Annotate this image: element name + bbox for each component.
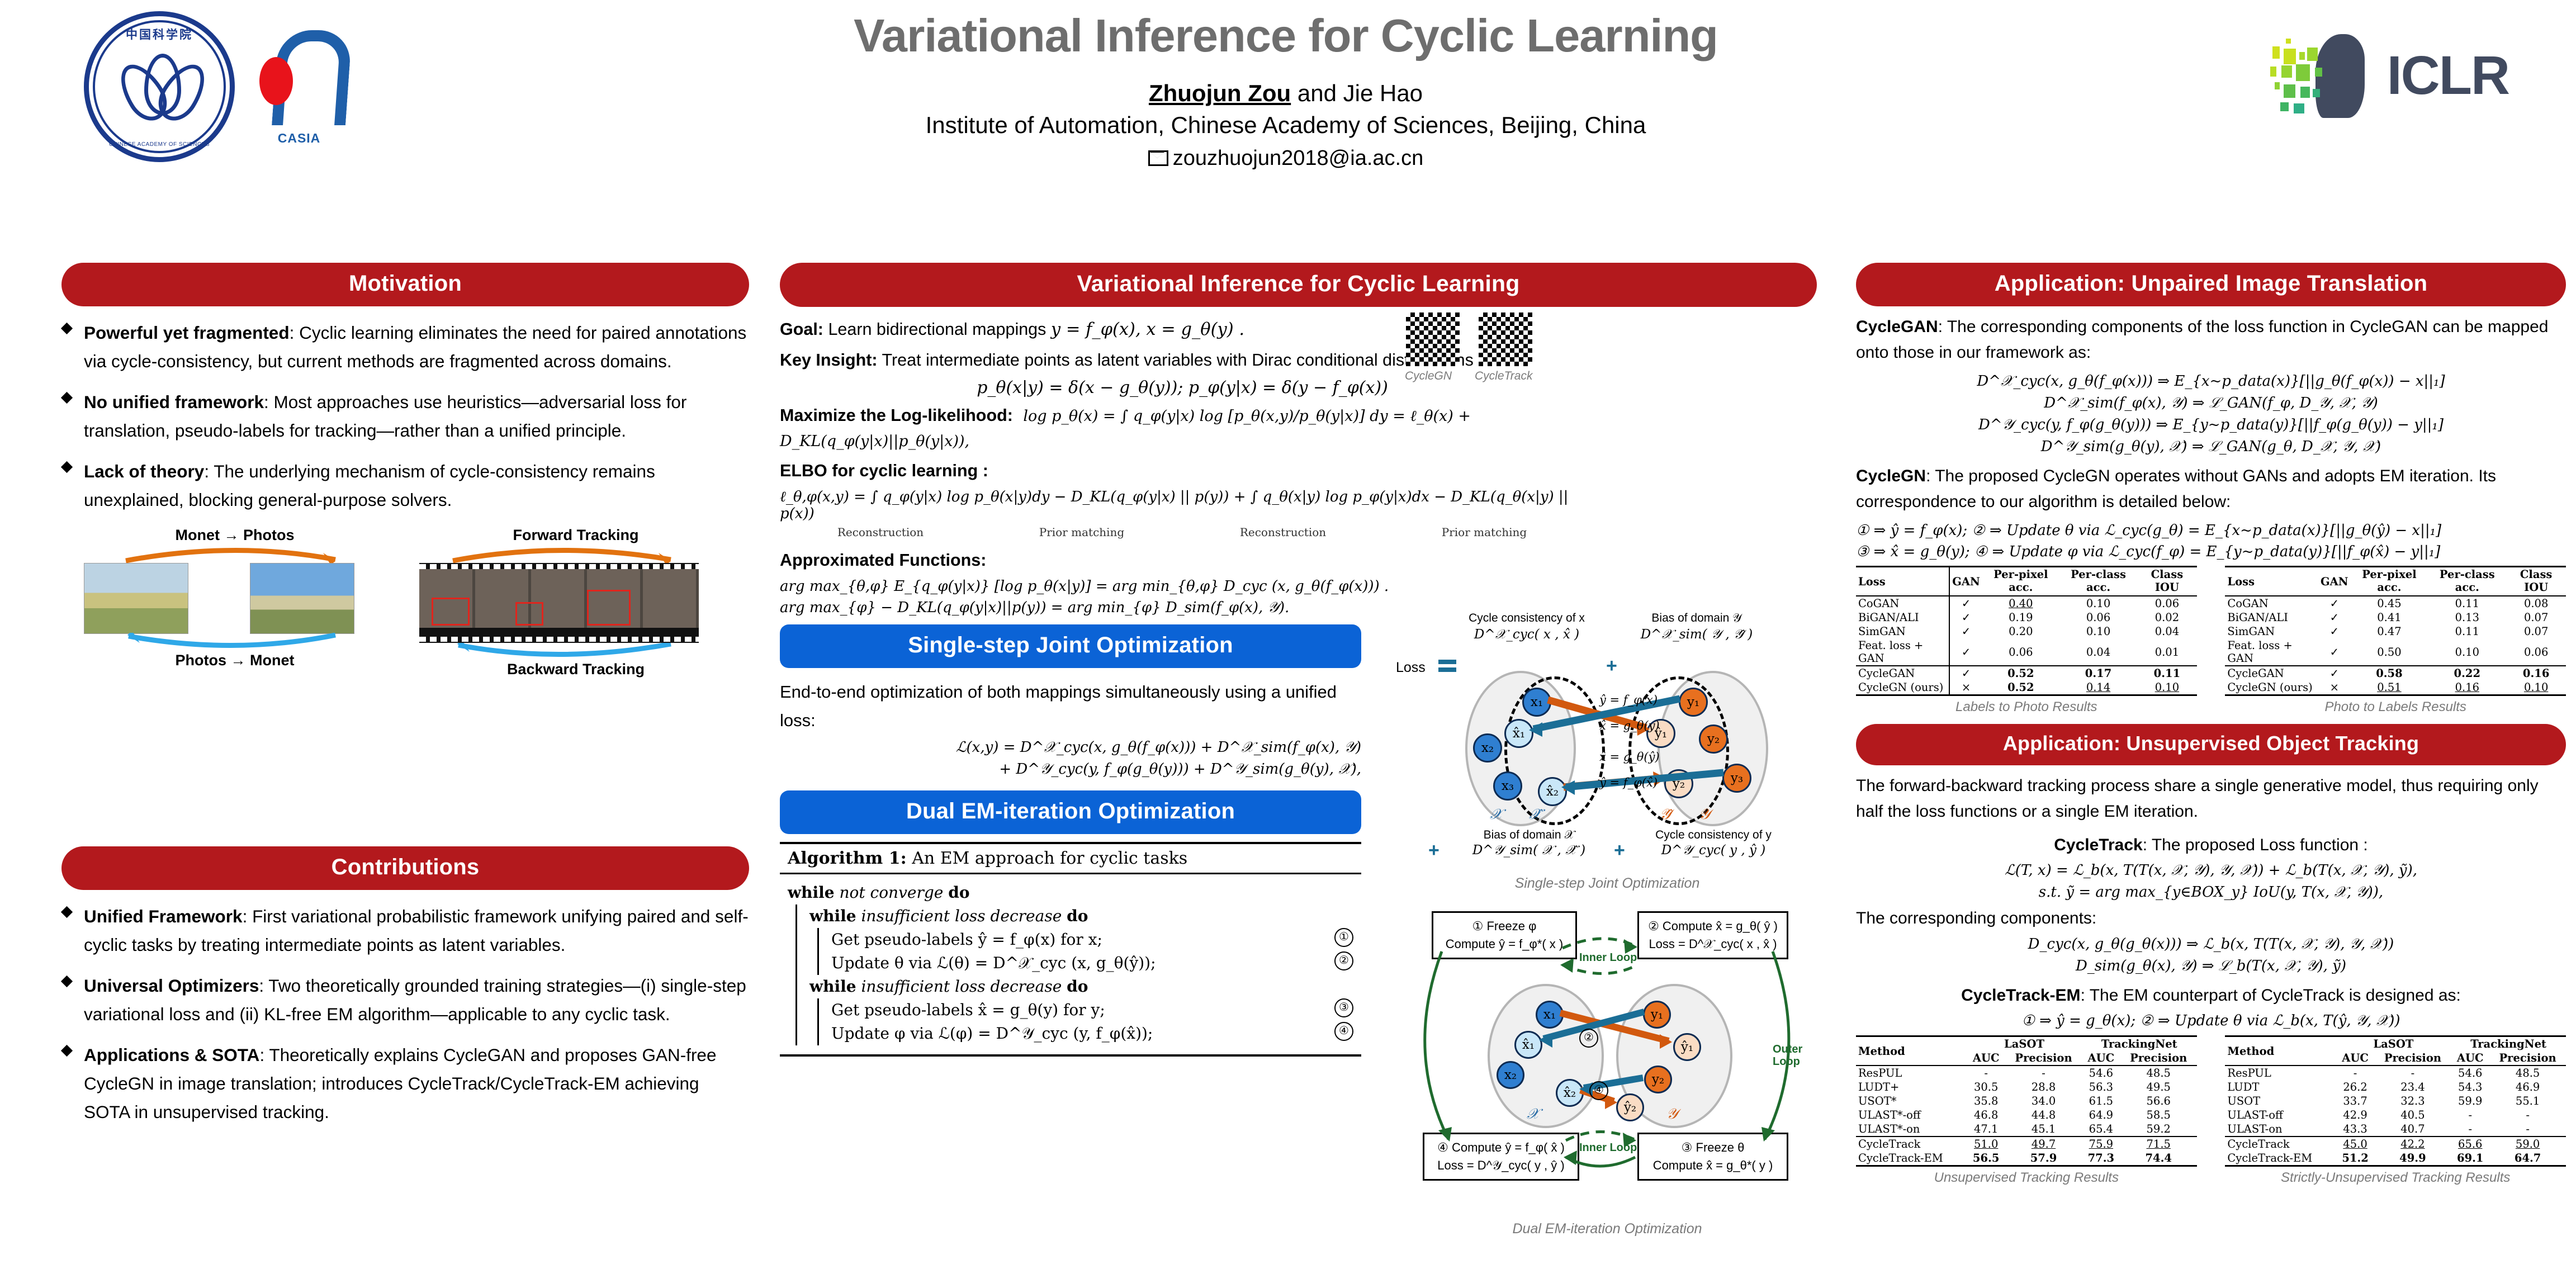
table-row: CycleGAN✓0.520.170.11 [1856,666,2197,680]
section-header-contributions: Contributions [61,846,749,890]
goal-equation: y = f_φ(x), x = g_θ(y) . [1051,320,1244,339]
cell-iou: 0.07 [2506,610,2566,624]
table-row: CycleTrack-EM56.557.977.374.4 [1856,1151,2197,1166]
cycletrack-em-label: CycleTrack-EM [1961,986,2080,1005]
cell-per-class: 0.10 [2059,624,2137,638]
th-trackingnet: TrackingNet [2082,1036,2197,1052]
cell-iou: 0.06 [2137,596,2196,610]
cell-prec-tnet: 46.9 [2489,1080,2566,1094]
cell-iou: 0.08 [2506,596,2566,610]
algorithm-keyword: while [809,907,856,925]
cell-per-class: 0.10 [2428,638,2506,666]
th-auc-lasot: AUC [1967,1051,2005,1066]
approx-equation-1: arg max_{θ,φ} E_{q_φ(y|x)} [log p_θ(x|y)… [780,578,1585,595]
key-insight-line: Key Insight: Treat intermediate points a… [780,348,1585,372]
cell-prec-lasot: 28.8 [2005,1080,2082,1094]
cell-iou: 0.10 [2137,680,2196,695]
cell-per-class: 0.13 [2428,610,2506,624]
cell-method: CycleTrack-EM [2225,1151,2336,1166]
list-item: Applications & SOTA: Theoretically expla… [61,1041,749,1126]
single-step-equation-2: + D^𝒴_cyc(y, f_φ(g_θ(y))) + D^𝒴_sim(g_θ(… [780,761,1361,778]
column-middle: Variational Inference for Cyclic Learnin… [780,263,1817,1057]
cell-gan: ✓ [1949,638,1982,666]
table-strict-wrap: Method LaSOT TrackingNet AUC Precision A… [2225,1035,2566,1186]
dirac-equation: p_θ(x|y) = δ(x − g_θ(y)); p_φ(y|x) = δ(y… [780,378,1585,397]
table-row: Feat. loss + GAN✓0.060.040.01 [1856,638,2197,666]
diamond-bullet-icon [61,392,73,404]
cell-auc-tnet: 69.1 [2451,1151,2489,1166]
list-item: Universal Optimizers: Two theoretically … [61,972,749,1029]
cell-auc-lasot: 51.0 [1967,1137,2005,1151]
casia-logo-dot [259,57,293,105]
cyclegan-equation-1: D^𝒳_cyc(x, g_θ(f_φ(x))) ⇒ E_{x~p_data(x)… [1856,373,2566,390]
algorithm-box: Algorithm 1: An EM approach for cyclic t… [780,842,1361,1057]
diamond-bullet-icon [61,1045,73,1057]
cell-auc-tnet: 54.3 [2451,1080,2489,1094]
th-auc-tnet: AUC [2451,1051,2489,1066]
cell-prec-tnet: 59.0 [2489,1137,2566,1151]
cell-iou: 0.10 [2506,680,2566,695]
diagram1-map-forward2: ŷ = f_φ(x̂) [1599,776,1658,789]
cell-prec-lasot: 44.8 [2005,1108,2082,1122]
cell-auc-lasot: - [2336,1066,2375,1080]
table-row: ULAST-off42.940.5-- [2225,1108,2566,1122]
cell-per-class: 0.11 [2428,624,2506,638]
table-row: CycleGN (ours)×0.520.140.10 [1856,680,2197,695]
em-domain-y-symbol: 𝒴 [1666,1106,1678,1123]
cell-gan: ✓ [2318,638,2351,666]
figure-caption-photos-to-monet: Photos → Monet [73,652,397,669]
contact-email-line: zouzhuojun2018@ia.ac.cn [615,146,1957,171]
th-per-class: Per-class acc. [2428,567,2506,595]
underbrace-label-reconstruction-1: Reconstruction [780,525,981,539]
film-perforations-bottom [419,637,699,642]
cell-prec-tnet: - [2489,1108,2566,1122]
cell-per-pixel: 0.52 [1982,680,2059,695]
cell-prec-tnet: 59.2 [2120,1122,2197,1137]
single-step-text: End-to-end optimization of both mappings… [780,678,1361,734]
table-header-row: Loss GAN Per-pixel acc. Per-class acc. C… [1856,567,2197,595]
cell-gan: × [2318,680,2351,695]
table-row: CycleTrack45.042.265.659.0 [2225,1137,2566,1151]
author-lead: Zhuojun Zou [1149,80,1291,106]
cell-prec-lasot: 40.5 [2375,1108,2451,1122]
cell-method: USOT [2225,1094,2336,1108]
image-tracking-filmstrip [419,563,699,643]
cell-method: ULAST-off [2225,1108,2336,1122]
key-insight-text: Treat intermediate points as latent vari… [882,351,1483,370]
cell-gan: ✓ [1949,624,1982,638]
th-per-pixel: Per-pixel acc. [2351,567,2428,595]
key-insight-label: Key Insight: [780,351,878,370]
algorithm-statement: Update θ via ℒ(θ) = D^𝒳_cyc (x, g_θ(ŷ)); [831,951,1156,975]
cell-prec-lasot: 49.9 [2375,1151,2451,1166]
cyclegn-paragraph: CycleGN: The proposed CycleGN operates w… [1856,463,2566,514]
cell-auc-lasot: 26.2 [2336,1080,2375,1094]
cell-prec-lasot: 23.4 [2375,1080,2451,1094]
cell-loss: CoGAN [2225,596,2318,610]
algorithm-label: Algorithm 1: [788,849,907,868]
table-row: CoGAN✓0.400.100.06 [1856,596,2197,610]
cell-method: LUDT [2225,1080,2336,1094]
cell-auc-lasot: 46.8 [1967,1108,2005,1122]
plus-icon: + [1428,840,1439,861]
cell-per-class: 0.06 [2059,610,2137,624]
th-per-class: Per-class acc. [2059,567,2137,595]
algorithm-condition: not converge [839,883,943,902]
algorithm-line: Get pseudo-labels ŷ = f_φ(x) for x; ① [831,928,1353,951]
diamond-bullet-icon [61,906,73,918]
cell-auc-lasot: 45.0 [2336,1137,2375,1151]
cell-per-class: 0.17 [2059,666,2137,680]
list-item: Unified Framework: First variational pro… [61,902,749,959]
iclr-logo-mark [2267,31,2365,120]
diagram1-cycle-y-label: Cycle consistency of y [1635,828,1792,842]
tracking-intro-text: The forward-backward tracking process sh… [1856,773,2566,824]
cell-auc-tnet: 61.5 [2082,1094,2120,1108]
inner-loop-label-top: Inner Loop [1579,951,1637,964]
cell-loss: Feat. loss + GAN [2225,638,2318,666]
cyclegn-label: CycleGN [1856,467,1926,485]
cell-prec-tnet: 74.4 [2120,1151,2197,1166]
cell-prec-tnet: 48.5 [2120,1066,2197,1080]
cell-prec-lasot: 49.7 [2005,1137,2082,1151]
cell-prec-tnet: 49.5 [2120,1080,2197,1094]
cell-loss: SimGAN [2225,624,2318,638]
cas-logo-petals [117,51,201,119]
th-prec-tnet: Precision [2489,1051,2566,1066]
algorithm-block: Get pseudo-labels ŷ = f_φ(x) for x; ① Up… [817,928,1353,975]
cyclegan-equation-4: D^𝒴_sim(g_θ(y), 𝒳) ⇒ ℒ_GAN(g_θ, D_𝒳, 𝒴, … [1856,438,2566,456]
th-class-iou: Class IOU [2506,567,2566,595]
cell-method: CycleTrack-EM [1856,1151,1967,1166]
tracking-tables-row: Method LaSOT TrackingNet AUC Precision A… [1856,1035,2566,1186]
th-loss: Loss [2225,567,2318,596]
casia-logo: CASIA [240,27,358,147]
cell-per-pixel: 0.45 [2351,596,2428,610]
bullet-lead: Applications & SOTA [84,1045,259,1065]
diagram1-bias-x-label: Bias of domain 𝒳 [1456,828,1602,842]
cell-iou: 0.16 [2506,666,2566,680]
cell-prec-tnet: 58.5 [2120,1108,2197,1122]
tracking-bbox [587,590,631,626]
cell-method: USOT* [1856,1094,1967,1108]
algorithm-statement: Update φ via ℒ(φ) = D^𝒴_cyc (y, f_φ(x̂))… [831,1022,1153,1045]
cell-auc-tnet: 54.6 [2451,1066,2489,1080]
cell-gan: ✓ [2318,596,2351,610]
author-conjunction: and [1298,80,1337,106]
cas-logo-cn-text: 中国科学院 [84,26,235,42]
cyclegan-equation-2: D^𝒳_sim(f_φ(x), 𝒴) ⇒ ℒ_GAN(f_φ, D_𝒴, 𝒳, … [1856,395,2566,412]
cell-prec-lasot: 45.1 [2005,1122,2082,1137]
cell-auc-tnet: 56.3 [2082,1080,2120,1094]
cycletrack-em-paragraph: CycleTrack-EM: The EM counterpart of Cyc… [1856,983,2566,1008]
inner-loop-label-bottom: Inner Loop [1579,1142,1637,1154]
table-row: ResPUL--54.648.5 [2225,1066,2566,1080]
cell-auc-tnet: - [2451,1122,2489,1137]
table-strictly-unsupervised-tracking: Method LaSOT TrackingNet AUC Precision A… [2225,1035,2566,1167]
table-row: SimGAN✓0.470.110.07 [2225,624,2566,638]
cell-prec-lasot: 57.9 [2005,1151,2082,1166]
components-label: The corresponding components: [1856,906,2566,931]
approx-functions-label: Approximated Functions: [780,548,1585,572]
cell-prec-tnet: 55.1 [2489,1094,2566,1108]
poster-header: 中国科学院 CHINESE ACADEMY OF SCIENCES CASIA … [0,0,2576,240]
cell-per-class: 0.22 [2428,666,2506,680]
cell-iou: 0.06 [2506,638,2566,666]
plus-icon: + [1614,840,1625,861]
qr-caption-cycletrack: CycleTrack [1475,370,1532,383]
th-method: Method [2225,1036,2336,1066]
th-loss: Loss [1856,567,1949,596]
cell-auc-tnet: 65.6 [2451,1137,2489,1151]
em-step-marker-2: ② [1579,1029,1598,1048]
diagram-dual-em: ① Freeze φ Compute ŷ = f_φ*( x ) ② Compu… [1395,911,1820,1237]
cyclegn-text: : The proposed CycleGN operates without … [1856,467,2496,511]
algorithm-keyword: while [809,977,856,996]
column-left: Motivation Powerful yet fragmented: Cycl… [61,263,749,1139]
cell-per-pixel: 0.51 [2351,680,2428,695]
table-row: ULAST*-on47.145.165.459.2 [1856,1122,2197,1137]
cyclegan-equation-3: D^𝒴_cyc(y, f_φ(g_θ(y))) ⇒ E_{y~p_data(y)… [1856,416,2566,434]
table-row: LUDT26.223.454.346.9 [2225,1080,2566,1094]
diagram1-map-forward: ŷ = f_φ(x) [1599,693,1658,707]
em-domain-x-symbol: 𝒳 [1527,1106,1539,1123]
goal-text: Learn bidirectional mappings [828,320,1046,339]
underbrace-label-prior-2: Prior matching [1384,525,1585,539]
diagram-single-step: Loss Cycle consistency of x D^𝒳_cyc( x ,… [1395,609,1820,892]
cycletrack-em-equation: ① ⇒ ŷ = g_θ(x); ② ⇒ Update θ via ℒ_b(x, … [1856,1012,2566,1030]
diagram1-caption: Single-step Joint Optimization [1395,875,1820,892]
th-per-pixel: Per-pixel acc. [1982,567,2059,595]
image-real-photo [250,563,354,634]
algorithm-keyword: while [788,883,835,902]
cell-loss: SimGAN [1856,624,1949,638]
algorithm-header: Algorithm 1: An EM approach for cyclic t… [780,844,1361,874]
th-trackingnet: TrackingNet [2451,1036,2566,1052]
cell-per-pixel: 0.20 [1982,624,2059,638]
image-monet-painting [84,563,188,634]
algorithm-title: An EM approach for cyclic tasks [912,849,1187,868]
cyclegan-text: : The corresponding components of the lo… [1856,318,2548,362]
cell-loss: BiGAN/ALI [1856,610,1949,624]
motivation-bullet-list: Powerful yet fragmented: Cyclic learning… [61,319,749,514]
cell-per-pixel: 0.50 [2351,638,2428,666]
cell-auc-tnet: 77.3 [2082,1151,2120,1166]
cell-method: ULAST-on [2225,1122,2336,1137]
cyclegan-label: CycleGAN [1856,318,1938,336]
cell-per-pixel: 0.40 [1982,596,2059,610]
list-item: Lack of theory: The underlying mechanism… [61,457,749,514]
table-labels-to-photo: Loss GAN Per-pixel acc. Per-class acc. C… [1856,566,2197,696]
algorithm-step-number: ① [1334,928,1353,947]
cell-prec-lasot: 32.3 [2375,1094,2451,1108]
components-equation-2: D_sim(g_θ(x), 𝒴) ⇒ ℒ_b(T(x, 𝒳, 𝒴), ỹ) [1856,958,2566,975]
th-prec-lasot: Precision [2375,1051,2451,1066]
diamond-bullet-icon [61,976,73,987]
table-row: CycleGAN✓0.580.220.16 [2225,666,2566,680]
algorithm-step-number: ② [1334,951,1353,970]
cell-auc-tnet: - [2451,1108,2489,1122]
cell-per-pixel: 0.19 [1982,610,2059,624]
qr-code-cyclegn[interactable] [1406,312,1460,366]
table-header-row: Method LaSOT TrackingNet [2225,1036,2566,1052]
poster-root: 中国科学院 CHINESE ACADEMY OF SCIENCES CASIA … [0,0,2576,1288]
table-body: CoGAN✓0.400.100.06 BiGAN/ALI✓0.190.060.0… [1856,596,2197,695]
cell-per-class: 0.11 [2428,596,2506,610]
cell-auc-tnet: 64.9 [2082,1108,2120,1122]
cell-auc-lasot: - [1967,1066,2005,1080]
cell-prec-tnet: - [2489,1122,2566,1137]
cas-logo-en-text: CHINESE ACADEMY OF SCIENCES [84,141,235,148]
translation-tables-row: Loss GAN Per-pixel acc. Per-class acc. C… [1856,566,2566,715]
figure-caption-backward-tracking: Backward Tracking [419,661,732,678]
affiliation: Institute of Automation, Chinese Academy… [615,112,1957,139]
cell-method: ULAST*-on [1856,1122,1967,1137]
table-caption-labels-to-photo: Labels to Photo Results [1856,699,2197,715]
algorithm-do: do [1067,977,1088,996]
section-header-application-tracking: Application: Unsupervised Object Trackin… [1856,724,2566,765]
bullet-lead: No unified framework [84,392,264,412]
table-row: BiGAN/ALI✓0.410.130.07 [2225,610,2566,624]
cell-auc-lasot: 47.1 [1967,1122,2005,1137]
algorithm-line: while insufficient loss decrease do [809,975,1353,998]
cell-method: CycleTrack [2225,1137,2336,1151]
cell-per-pixel: 0.58 [2351,666,2428,680]
table-row: USOT33.732.359.955.1 [2225,1094,2566,1108]
algorithm-condition: insufficient loss decrease [861,977,1062,996]
diamond-bullet-icon [61,323,73,334]
table-unsup-wrap: Method LaSOT TrackingNet AUC Precision A… [1856,1035,2197,1186]
cell-prec-tnet: 64.7 [2489,1151,2566,1166]
diagram1-cycle-y-eq: D^𝒴_cyc( y , ŷ ) [1635,843,1792,858]
algorithm-statement: Get pseudo-labels ŷ = f_φ(x) for x; [831,928,1102,951]
cell-gan: ✓ [2318,610,2351,624]
underbrace-label-reconstruction-2: Reconstruction [1182,525,1384,539]
table-row: BiGAN/ALI✓0.190.060.02 [1856,610,2197,624]
cycletrack-em-text: : The EM counterpart of CycleTrack is de… [2081,986,2461,1005]
table-unsupervised-tracking: Method LaSOT TrackingNet AUC Precision A… [1856,1035,2197,1167]
table-row: ResPUL--54.648.5 [1856,1066,2197,1080]
domain-y-symbol: 𝒴 [1699,806,1710,823]
th-gan: GAN [1949,567,1982,596]
middle-body: Goal: Learn bidirectional mappings y = f… [780,317,1585,617]
th-lasot: LaSOT [2336,1036,2451,1052]
table-row: CycleGN (ours)×0.510.160.10 [2225,680,2566,695]
algorithm-line: Get pseudo-labels x̂ = g_θ(y) for y; ③ [831,998,1353,1022]
algorithm-do: do [948,883,969,902]
bullet-lead: Universal Optimizers [84,976,259,996]
em-step-marker-4: ④ [1589,1081,1608,1100]
algorithm-block: Get pseudo-labels x̂ = g_θ(y) for y; ③ U… [817,998,1353,1045]
cell-gan: ✓ [1949,610,1982,624]
bullet-lead: Unified Framework [84,906,243,926]
cell-iou: 0.01 [2137,638,2196,666]
algorithm-step-number: ③ [1334,998,1353,1017]
table-photo-to-labels: Loss GAN Per-pixel acc. Per-class acc. C… [2225,566,2566,696]
diagram1-map-backward: x̂ = g_θ(y) [1599,719,1660,732]
qr-code-cycletrack[interactable] [1479,312,1532,366]
table-body: ResPUL--54.648.5 LUDT26.223.454.346.9 US… [2225,1066,2566,1166]
qr-caption-cyclegn: CycleGN [1405,370,1452,383]
domain-x-symbol: 𝒳 [1490,806,1502,823]
elbo-equation: ℓ_θ,φ(x,y) = ∫ q_φ(y|x) log p_θ(x|y)dy −… [780,489,1585,522]
cell-per-class: 0.16 [2428,680,2506,695]
iclr-logo-text: ICLR [2387,44,2509,107]
section-header-single-step: Single-step Joint Optimization [780,624,1361,668]
goal-label: Goal: [780,320,823,339]
column-right: Application: Unpaired Image Translation … [1856,263,2566,1186]
th-prec-tnet: Precision [2120,1051,2197,1066]
motivation-figure: Monet → Photos Photos → Monet Forward Tr… [61,527,749,672]
underbrace-label-prior-1: Prior matching [981,525,1182,539]
th-auc-tnet: AUC [2082,1051,2120,1066]
table-row: CycleTrack-EM51.249.969.164.7 [2225,1151,2566,1166]
outer-loop-label: Outer Loop [1773,1043,1798,1068]
cell-gan: × [1949,680,1982,695]
cycletrack-equation-1: ℒ(T, x) = ℒ_b(x, T(T(x, 𝒳, 𝒴), 𝒴, 𝒳)) + … [1856,862,2566,879]
cell-method: ResPUL [1856,1066,1967,1080]
figure-caption-forward-tracking: Forward Tracking [419,527,732,544]
cell-loss: Feat. loss + GAN [1856,638,1949,666]
poster-title: Variational Inference for Cyclic Learnin… [615,11,1957,60]
cell-per-class: 0.14 [2059,680,2137,695]
cell-loss: CycleGN (ours) [1856,680,1949,695]
algorithm-condition: insufficient loss decrease [861,907,1062,925]
cell-prec-tnet: 48.5 [2489,1066,2566,1080]
diagram1-arrows [1395,609,1820,866]
cell-per-class: 0.04 [2059,638,2137,666]
cell-prec-lasot: 40.7 [2375,1122,2451,1137]
cell-prec-lasot: 34.0 [2005,1094,2082,1108]
cell-gan: ✓ [2318,624,2351,638]
cycletrack-label: CycleTrack [2054,836,2142,854]
algorithm-do: do [1067,907,1088,925]
author-second: Jie Hao [1343,80,1423,106]
th-lasot: LaSOT [1967,1036,2082,1052]
section-header-dual-em: Dual EM-iteration Optimization [780,790,1361,834]
algorithm-line: while insufficient loss decrease do [809,905,1353,928]
cell-per-pixel: 0.47 [2351,624,2428,638]
table-row: LUDT+30.528.856.349.5 [1856,1080,2197,1094]
diamond-bullet-icon [61,461,73,473]
cell-method: CycleTrack [1856,1137,1967,1151]
cell-loss: BiGAN/ALI [2225,610,2318,624]
cell-loss: CycleGAN [1856,666,1949,680]
diagram1-map-backward2: x̂ = g_θ(ŷ) [1599,750,1660,764]
cell-iou: 0.04 [2137,624,2196,638]
casia-logo-text: CASIA [240,131,358,146]
table-row: CoGAN✓0.450.110.08 [2225,596,2566,610]
cell-auc-tnet: 59.9 [2451,1094,2489,1108]
cell-per-pixel: 0.06 [1982,638,2059,666]
algorithm-line: while not converge do [788,881,1353,905]
cell-loss: CycleGAN [2225,666,2318,680]
cell-prec-tnet: 56.6 [2120,1094,2197,1108]
cell-gan: ✓ [1949,596,1982,610]
section-header-application-translation: Application: Unpaired Image Translation [1856,263,2566,306]
list-item: No unified framework: Most approaches us… [61,388,749,445]
tracking-bbox [432,598,470,626]
cyclegan-paragraph: CycleGAN: The corresponding components o… [1856,314,2566,365]
table-caption-photo-to-labels: Photo to Labels Results [2225,699,2566,715]
forward-tracking-arrow-icon [419,544,721,563]
cell-loss: CycleGN (ours) [2225,680,2318,695]
author-line: Zhuojun Zou and Jie Hao [615,78,1957,109]
table-body: CoGAN✓0.450.110.08 BiGAN/ALI✓0.410.130.0… [2225,596,2566,695]
table-header-row: Method LaSOT TrackingNet [1856,1036,2197,1052]
algorithm-block: while insufficient loss decrease do Get … [795,905,1353,1045]
